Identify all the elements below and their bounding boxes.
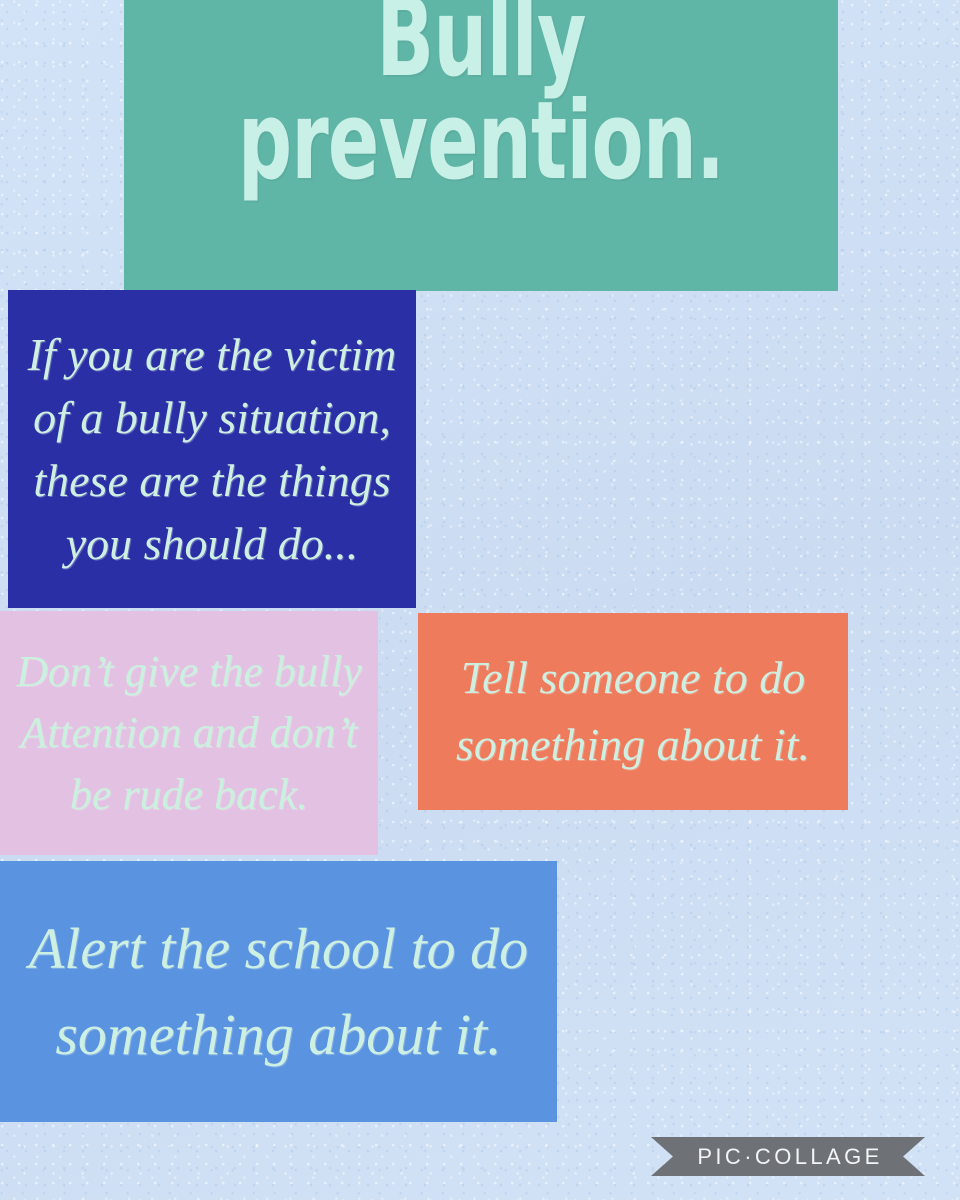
intro-block: If you are the victim of a bully situati… [8,290,416,608]
tip-text-ignore: Don’t give the bully Attention and don’t… [0,641,378,826]
tip-text-tell: Tell someone to do something about it. [418,645,848,777]
tip-block-tell: Tell someone to do something about it. [418,613,848,810]
poster-title: Bully prevention. [203,0,760,193]
tip-block-ignore: Don’t give the bully Attention and don’t… [0,611,378,855]
title-block: Bully prevention. [124,0,838,291]
piccollage-watermark-banner: PIC·COLLAGE [651,1137,925,1176]
tip-text-alert: Alert the school to do something about i… [0,906,557,1077]
intro-text: If you are the victim of a bully situati… [8,323,416,575]
poster-canvas: Bully prevention. If you are the victim … [0,0,960,1200]
piccollage-watermark-label: PIC·COLLAGE [693,1144,882,1170]
tip-block-alert: Alert the school to do something about i… [0,861,557,1122]
